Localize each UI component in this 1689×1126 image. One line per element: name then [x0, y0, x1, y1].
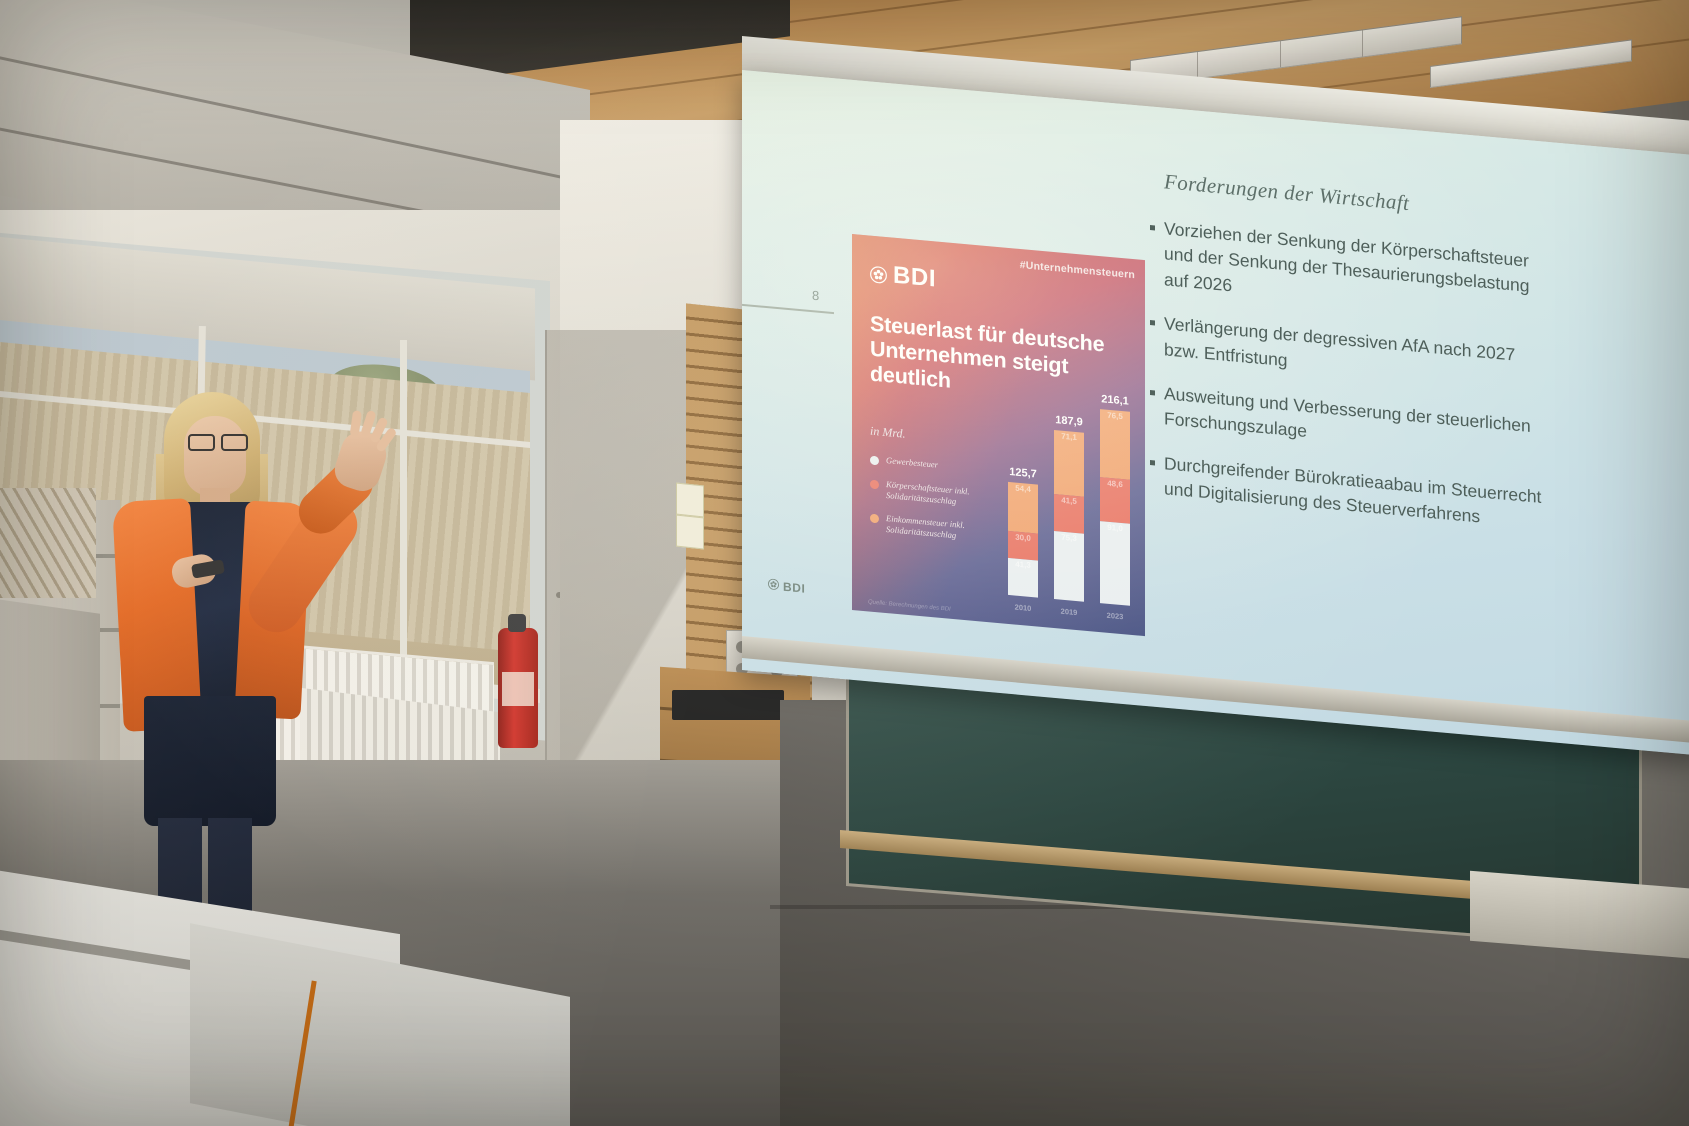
- bullet-item: Durchgreifender Bürokratieaabau im Steue…: [1150, 450, 1550, 536]
- legend-item: Einkommensteuer inkl. Solidaritätszuschl…: [870, 512, 1000, 545]
- bullet-item: Verlängerung der degressiven AfA nach 20…: [1150, 310, 1550, 396]
- bar-segment: 71,1: [1054, 430, 1084, 497]
- bar-group: 75,341,571,1187,92019: [1054, 430, 1084, 602]
- bullet-text: Ausweitung und Verbesserung der steuerli…: [1164, 381, 1550, 466]
- bar-total-label: 216,1: [1101, 393, 1129, 407]
- legend-label: Gewerbesteuer: [886, 455, 938, 471]
- bar-segment: 48,6: [1100, 478, 1130, 524]
- bullet-text: Durchgreifender Bürokratieaabau im Steue…: [1164, 451, 1550, 536]
- slide-unit-label: in Mrd.: [870, 424, 906, 442]
- bdi-wordmark: BDI: [893, 264, 936, 292]
- room-photo: 8 #Unternehmensteuern BDI Steuerlast für…: [0, 0, 1689, 1126]
- bar-segment-label: 76,5: [1100, 409, 1130, 422]
- legend-label: Einkommensteuer inkl. Solidaritätszuschl…: [886, 514, 1000, 546]
- wall-notice: [676, 515, 704, 550]
- slide-hashtag: #Unternehmensteuern: [1020, 259, 1135, 281]
- bullet-square-icon: [1150, 390, 1155, 395]
- bullet-text: Vorziehen der Senkung der Körperschaftst…: [1164, 216, 1550, 327]
- bar-segment: 76,5: [1100, 409, 1130, 481]
- fire-extinguisher-label: [502, 672, 534, 706]
- wall-notice: [676, 483, 704, 518]
- bullet-item: Vorziehen der Senkung der Körperschaftst…: [1150, 215, 1550, 327]
- legend-swatch-gewerbesteuer: [870, 456, 879, 466]
- bar-segment: 54,4: [1008, 482, 1038, 534]
- bar-segment: 75,3: [1054, 531, 1084, 601]
- bar-total-label: 125,7: [1009, 466, 1037, 480]
- bdi-logo: BDI: [870, 262, 936, 292]
- bar-group: 91,048,676,5216,12023: [1100, 409, 1130, 606]
- legend-swatch-einkommensteuer: [870, 514, 879, 524]
- bar-segment-label: 54,4: [1008, 482, 1038, 495]
- chart-source: Quelle: Berechnungen des BDI: [868, 599, 951, 612]
- slide-footer-logo: BDI: [768, 576, 805, 597]
- bar-total-label: 187,9: [1055, 414, 1083, 428]
- bar-segment: 30,0: [1008, 531, 1038, 561]
- face: [184, 416, 246, 496]
- slide-text-panel: Forderungen der Wirtschaft Vorziehen der…: [1150, 168, 1550, 555]
- bar-segment: 41,3: [1008, 558, 1038, 598]
- legend-item: Körperschaftsteuer inkl. Solidaritätszus…: [870, 478, 1000, 511]
- bullet-square-icon: [1150, 460, 1155, 465]
- bullet-square-icon: [1150, 320, 1155, 325]
- bdi-flower-icon-footer: [768, 576, 779, 595]
- glasses-icon: [188, 434, 244, 447]
- stacked-bar-chart: 41,330,054,4125,7201075,341,571,1187,920…: [992, 350, 1142, 628]
- legend-item: Gewerbesteuer: [870, 454, 1000, 477]
- bar-group: 41,330,054,4125,72010: [1008, 482, 1038, 598]
- bar-segment-label: 41,3: [1008, 558, 1038, 571]
- slide-page-number: 8: [812, 288, 819, 304]
- skirt: [144, 696, 276, 826]
- slide-chart-panel: #Unternehmensteuern BDI Steuerlast für d…: [852, 234, 1145, 636]
- bullet-item: Ausweitung und Verbesserung der steuerli…: [1150, 380, 1550, 466]
- legend-label: Körperschaftsteuer inkl. Solidaritätszus…: [886, 479, 1000, 511]
- bar-segment-label: 48,6: [1100, 478, 1130, 491]
- bar-segment: 91,0: [1100, 521, 1130, 606]
- bar-category-label: 2019: [1061, 607, 1078, 617]
- bar-segment-label: 30,0: [1008, 531, 1038, 544]
- bar-segment-label: 91,0: [1100, 521, 1130, 534]
- legend-swatch-koerperschaftsteuer: [870, 480, 879, 490]
- bullet-square-icon: [1150, 225, 1155, 230]
- bar-category-label: 2023: [1107, 611, 1124, 621]
- chart-legend: Gewerbesteuer Körperschaftsteuer inkl. S…: [870, 454, 1000, 559]
- bullet-text: Verlängerung der degressiven AfA nach 20…: [1164, 311, 1550, 396]
- bar-segment: 41,5: [1054, 494, 1084, 534]
- bdi-flower-icon: [870, 265, 887, 284]
- lattice-rack: [0, 488, 96, 598]
- bar-category-label: 2010: [1015, 603, 1032, 613]
- av-device: [672, 690, 784, 720]
- bar-segment-label: 75,3: [1054, 531, 1084, 544]
- bar-segment-label: 71,1: [1054, 430, 1084, 443]
- bar-segment-label: 41,5: [1054, 494, 1084, 507]
- bdi-footer-wordmark: BDI: [783, 581, 805, 595]
